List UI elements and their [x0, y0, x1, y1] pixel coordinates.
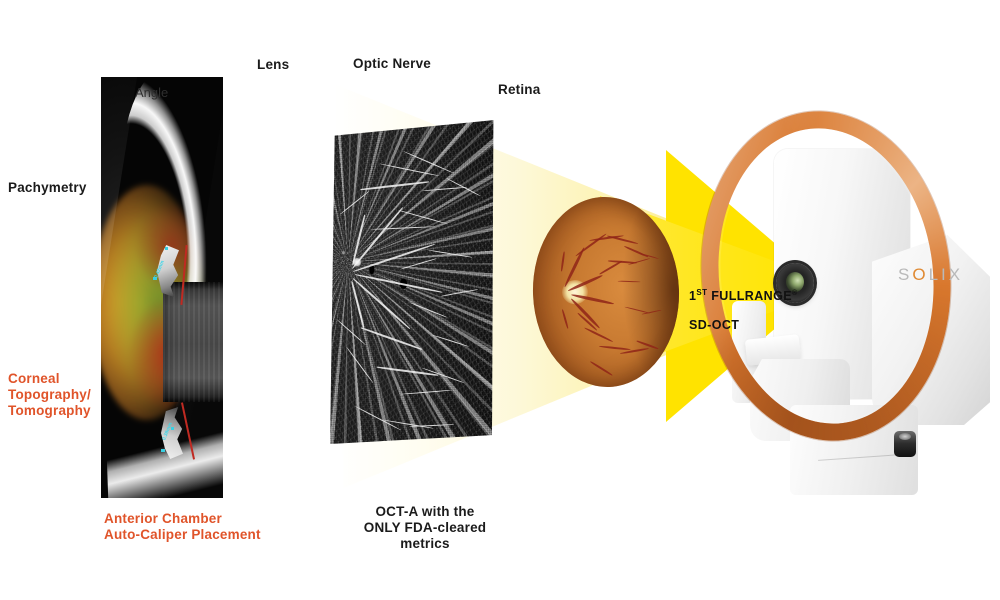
fullrange-line-1: 1ST FULLRANGE® — [689, 288, 798, 304]
logo-letter-s: S — [898, 265, 912, 284]
label-pachymetry: Pachymetry — [8, 180, 87, 196]
label-anterior-chamber: Anterior Chamber Auto-Caliper Placement — [104, 511, 261, 543]
angle-label: Angle — [135, 85, 168, 100]
octa-grain — [320, 116, 501, 448]
caliper-marker-1 — [165, 247, 168, 250]
registered-trademark-icon: ® — [792, 290, 798, 297]
crystalline-lens-block — [163, 282, 223, 402]
label-corneal-topography: Corneal Topography/ Tomography — [8, 371, 91, 419]
device-adjustment-knob[interactable] — [894, 431, 916, 457]
diagram-canvas: 0.42mm 0.38mm Angle SOLIX 1ST FULLRANGE® — [0, 0, 1000, 600]
fullrange-ordinal-suffix: ST — [696, 288, 707, 297]
anterior-segment-oct-image: 0.42mm 0.38mm Angle — [101, 77, 223, 498]
fullrange-callout: 1ST FULLRANGE® SD-OCT — [689, 273, 798, 348]
fullrange-word: FULLRANGE — [707, 289, 792, 303]
fullrange-line-2: SD-OCT — [689, 318, 798, 333]
fundus-photograph — [530, 195, 683, 390]
caliper-marker-4 — [161, 449, 165, 452]
logo-letter-o: O — [912, 265, 928, 284]
solix-logo: SOLIX — [898, 265, 963, 285]
label-octa-caption: OCT-A with the ONLY FDA-cleared metrics — [360, 504, 490, 552]
oct-angiography-image — [320, 116, 501, 448]
fundus-shading — [530, 195, 683, 390]
label-lens: Lens — [257, 57, 289, 73]
logo-letters-lix: LIX — [929, 265, 964, 284]
label-optic-nerve: Optic Nerve — [353, 56, 431, 72]
label-retina: Retina — [498, 82, 540, 98]
